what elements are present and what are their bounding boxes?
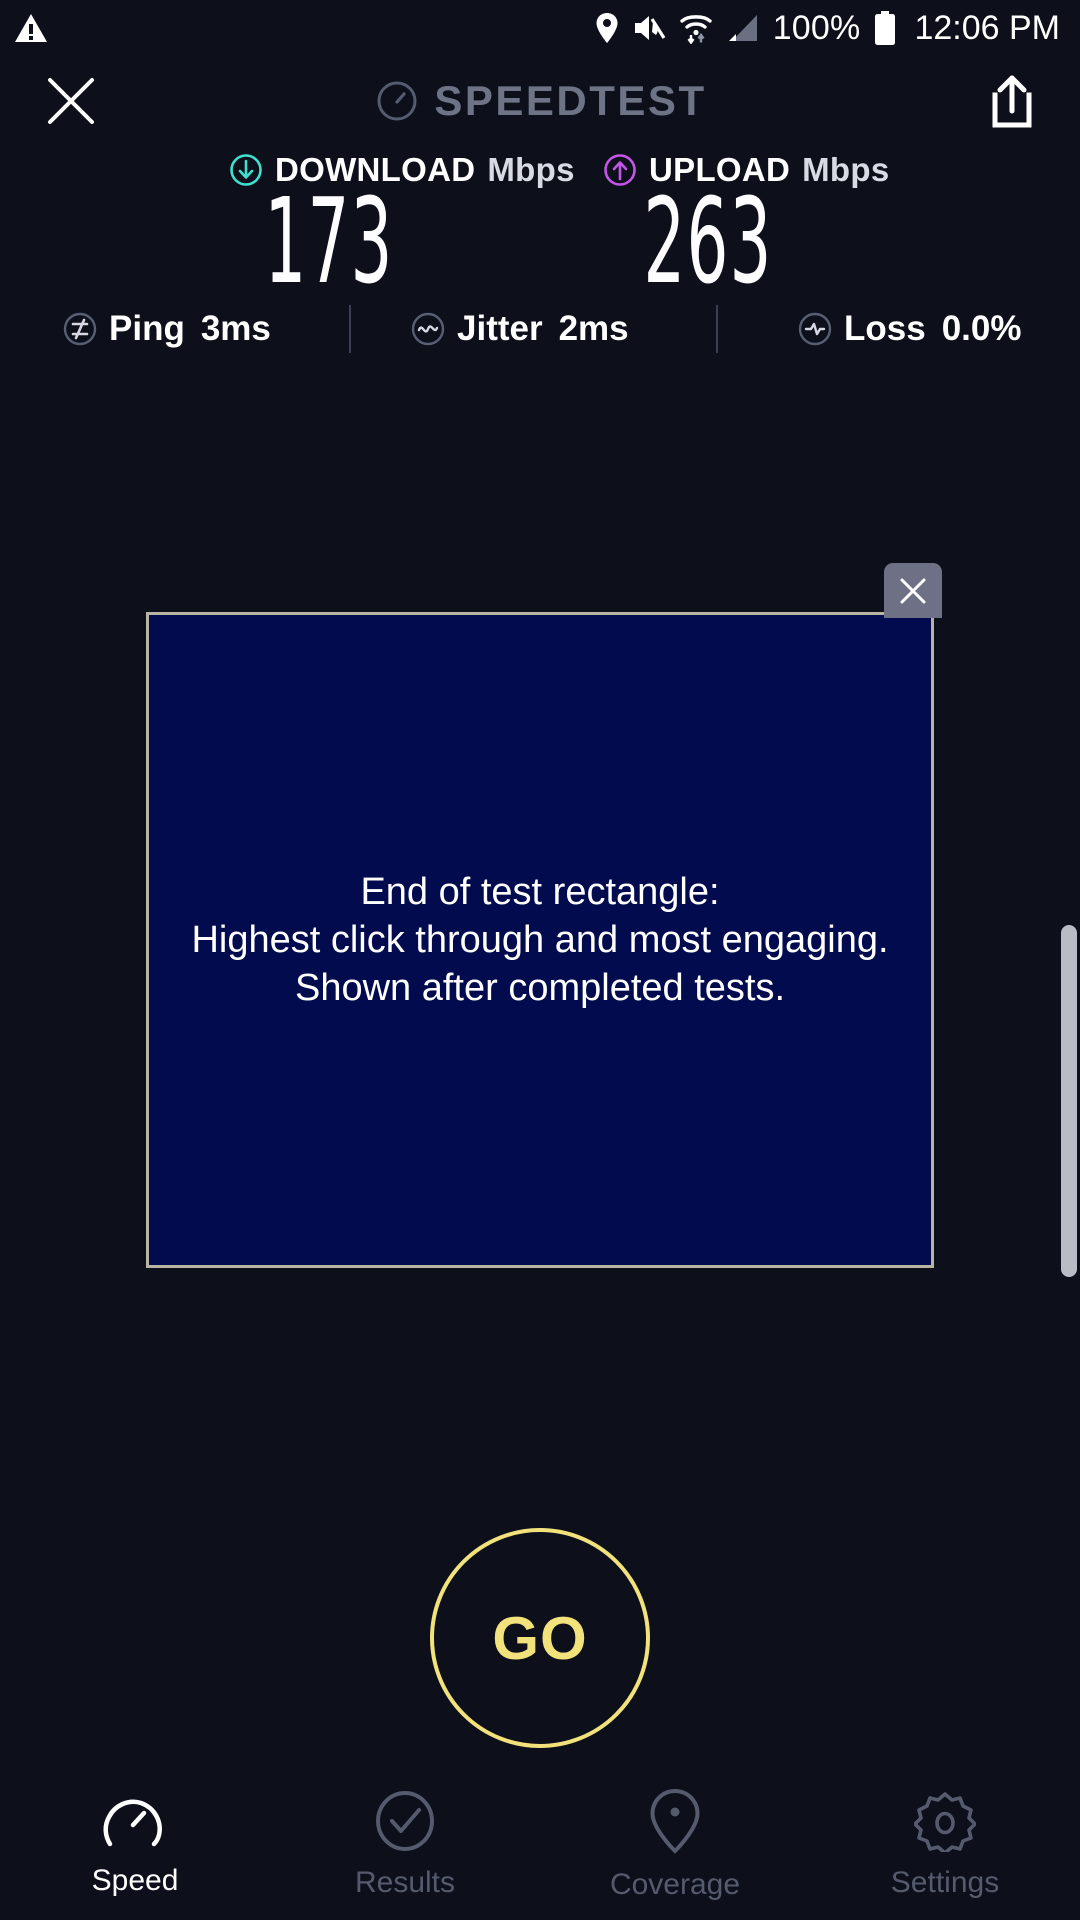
- metrics-divider: [349, 305, 351, 353]
- metrics-row: Ping 3ms Jitter 2ms Loss 0.0%: [0, 300, 1080, 358]
- scrollbar-thumb[interactable]: [1061, 925, 1077, 1277]
- nav-label-results: Results: [355, 1866, 455, 1900]
- upload-unit: Mbps: [802, 151, 889, 189]
- ad-close-button[interactable]: [884, 563, 942, 618]
- nav-label-coverage: Coverage: [610, 1868, 740, 1902]
- brand-lockup: SPEEDTEST: [0, 60, 1080, 142]
- go-button[interactable]: GO: [430, 1528, 650, 1748]
- cellular-signal-icon: [726, 12, 760, 44]
- metric-jitter-value: 2ms: [559, 309, 629, 349]
- share-icon: [987, 75, 1037, 129]
- share-button[interactable]: [980, 70, 1044, 134]
- nav-item-speed[interactable]: Speed: [0, 1770, 270, 1920]
- status-bar-right-icons: 100% 12:06 PM: [595, 9, 1080, 48]
- ad-text: End of test rectangle: Highest click thr…: [191, 868, 888, 1012]
- metric-loss-value: 0.0%: [942, 309, 1022, 349]
- advertisement-banner[interactable]: End of test rectangle: Highest click thr…: [146, 612, 934, 1268]
- download-unit: Mbps: [487, 151, 574, 189]
- nav-item-coverage[interactable]: Coverage: [540, 1770, 810, 1920]
- close-icon: [897, 575, 929, 607]
- status-bar-left-icons: [0, 12, 48, 44]
- battery-full-icon: [873, 11, 897, 45]
- go-button-label: GO: [492, 1604, 587, 1673]
- ping-icon: [62, 311, 98, 347]
- location-icon: [595, 12, 619, 44]
- mute-icon: [632, 13, 666, 43]
- app-title: SPEEDTEST: [434, 77, 706, 125]
- close-icon: [45, 75, 97, 127]
- result-values-row: 173 263: [0, 186, 1080, 296]
- metric-ping-label: Ping: [109, 309, 185, 349]
- status-bar: 100% 12:06 PM: [0, 0, 1080, 56]
- metrics-divider: [716, 305, 718, 353]
- check-circle-icon: [374, 1790, 436, 1852]
- nav-label-speed: Speed: [92, 1864, 179, 1898]
- app-header: SPEEDTEST: [0, 60, 1080, 142]
- loss-icon: [797, 311, 833, 347]
- jitter-icon: [410, 311, 446, 347]
- clock-label: 12:06 PM: [914, 9, 1060, 48]
- location-pin-icon: [648, 1788, 702, 1854]
- metric-loss-label: Loss: [844, 309, 926, 349]
- gear-icon: [914, 1790, 976, 1852]
- speedometer-icon: [103, 1792, 167, 1850]
- download-value: 173: [205, 186, 453, 296]
- nav-label-settings: Settings: [891, 1866, 999, 1900]
- metric-loss: Loss 0.0%: [797, 300, 1021, 358]
- metric-jitter: Jitter 2ms: [410, 300, 629, 358]
- metric-ping: Ping 3ms: [62, 300, 271, 358]
- nav-item-settings[interactable]: Settings: [810, 1770, 1080, 1920]
- download-arrow-icon: [229, 153, 263, 187]
- warning-triangle-icon: [14, 12, 48, 44]
- speedometer-icon: [373, 77, 421, 125]
- wifi-icon: [679, 12, 713, 44]
- metric-jitter-label: Jitter: [457, 309, 543, 349]
- close-button[interactable]: [36, 66, 106, 136]
- battery-percent-label: 100%: [773, 9, 861, 48]
- speedtest-app-screen: 100% 12:06 PM SPEEDTEST: [0, 0, 1080, 1920]
- upload-arrow-icon: [603, 153, 637, 187]
- bottom-navigation: Speed Results Coverage: [0, 1770, 1080, 1920]
- upload-value: 263: [584, 186, 832, 296]
- metric-ping-value: 3ms: [201, 309, 271, 349]
- nav-item-results[interactable]: Results: [270, 1770, 540, 1920]
